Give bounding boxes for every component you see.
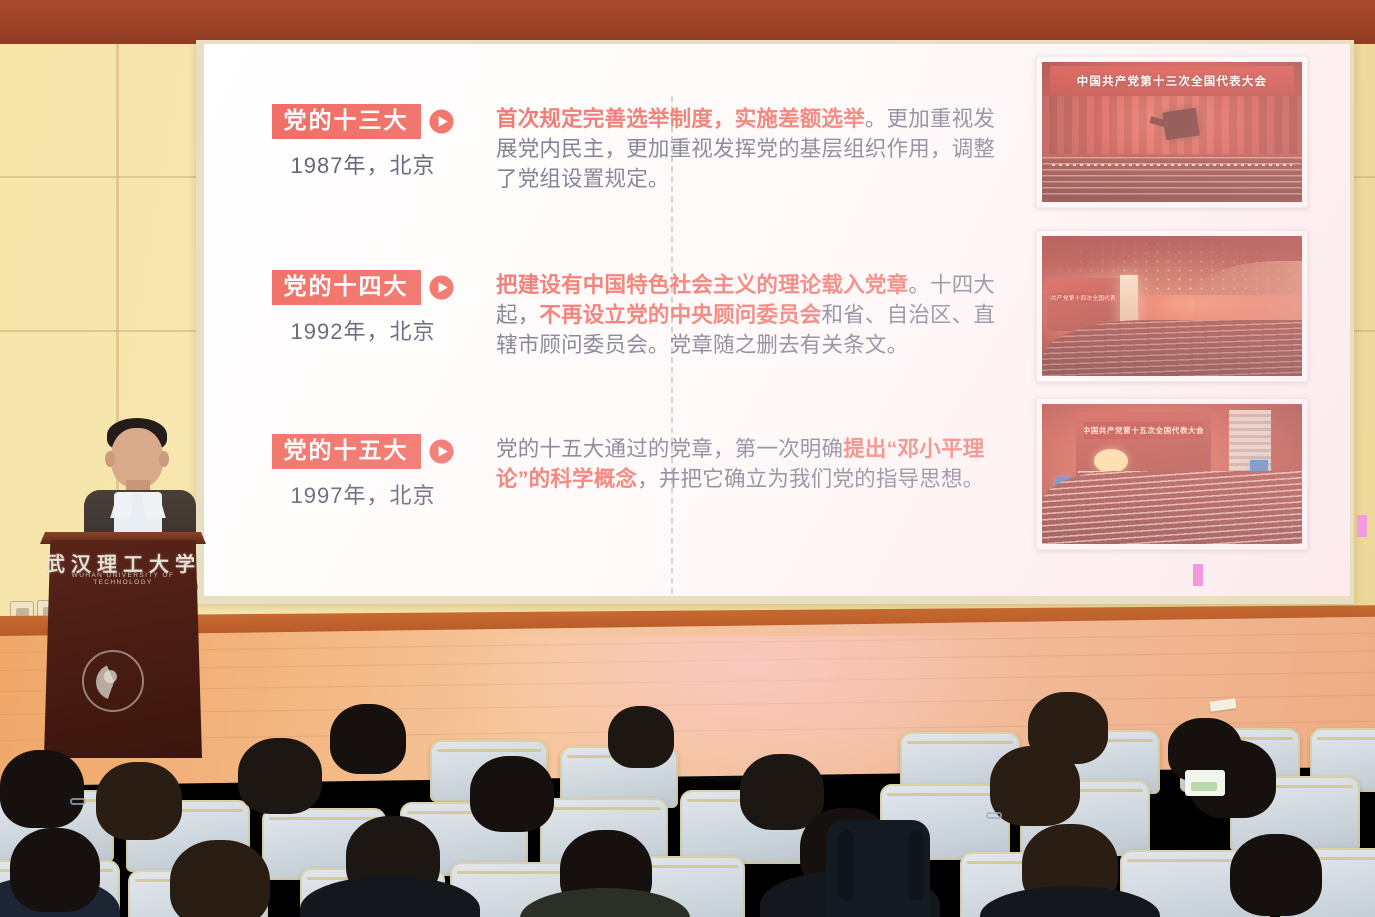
row-1-left-column: 党的十三大 1987年，北京 — [258, 104, 468, 180]
row-3-text-1: 党的十五大通过的党章，第一次明确 — [496, 437, 843, 461]
congress-photo-13-banner: 中国共产党第十三次全国代表大会 — [1050, 66, 1294, 95]
party-emblem-icon — [1094, 449, 1128, 473]
audience-area — [0, 680, 1375, 917]
congress-photo-13: 中国共产党第十三次全国代表大会 — [1036, 56, 1308, 208]
audience-head — [470, 756, 554, 832]
congress-date-15: 1997年，北京 — [258, 478, 468, 510]
row-3-body: 党的十五大通过的党章，第一次明确提出“邓小平理论”的科学概念，并把它确立为我们党… — [496, 434, 1006, 494]
projected-slide: 党的十三大 1987年，北京 首次规定完善选举制度，实施差额选举。更加重视发展党… — [204, 44, 1350, 596]
eyeglasses-icon — [70, 798, 86, 805]
congress-date-14: 1992年，北京 — [258, 314, 468, 346]
row-1-highlight-1: 首次规定完善选举制度，实施差额选举 — [496, 107, 865, 131]
party-emblem-icon — [1162, 107, 1199, 139]
row-2-body: 把建设有中国特色社会主义的理论载入党章。十四大起，不再设立党的中央顾问委员会和省… — [496, 270, 1006, 360]
screen-artifact — [1357, 515, 1367, 537]
audience-head — [170, 840, 270, 917]
audience-head — [1230, 834, 1322, 916]
podium-university-name-en: WUHAN UNIVERSITY OF TECHNOLOGY — [44, 572, 202, 586]
congress-badge-15: 党的十五大 — [272, 434, 421, 469]
lecture-hall-scene: 党的十三大 1987年，北京 首次规定完善选举制度，实施差额选举。更加重视发展党… — [0, 0, 1375, 917]
congress-badge-13: 党的十三大 — [272, 104, 421, 139]
audience-head — [330, 704, 406, 774]
row-1-body: 首次规定完善选举制度，实施差额选举。更加重视发展党内民主，更加重视发挥党的基层组… — [496, 104, 1006, 194]
congress-date-13: 1987年，北京 — [258, 148, 468, 180]
audience-head — [608, 706, 674, 768]
tissue-box — [1185, 770, 1225, 796]
row-3-text-2: ，并把它确立为我们党的指导思想。 — [637, 467, 984, 491]
screen-artifact — [1193, 564, 1203, 586]
congress-badge-14: 党的十四大 — [272, 270, 421, 305]
play-circle-icon[interactable] — [428, 438, 455, 465]
congress-photo-14: 中国共产党第十四次全国代表大会 — [1036, 230, 1308, 382]
backpack-strap — [908, 830, 924, 900]
audience-head — [990, 746, 1080, 826]
congress-photo-14-banner: 中国共产党第十四次全国代表大会 — [1050, 293, 1118, 303]
eyeglasses-icon — [986, 812, 1002, 819]
row-2-highlight-2: 不再设立党的中央顾问委员会 — [539, 303, 821, 327]
play-circle-icon[interactable] — [428, 108, 455, 135]
audience-head — [0, 750, 84, 828]
audience-head — [238, 738, 322, 814]
backpack-strap — [838, 830, 854, 900]
row-2-left-column: 党的十四大 1992年，北京 — [258, 270, 468, 346]
row-2-highlight-1: 把建设有中国特色社会主义的理论载入党章 — [496, 273, 908, 297]
row-3-left-column: 党的十五大 1997年，北京 — [258, 434, 468, 510]
congress-photo-15: 中国共产党第十五次全国代表大会 — [1036, 398, 1308, 550]
congress-photo-15-banner: 中国共产党第十五次全国代表大会 — [1084, 422, 1204, 439]
audience-head — [96, 762, 182, 840]
play-circle-icon[interactable] — [428, 274, 455, 301]
audience-head — [10, 828, 100, 912]
